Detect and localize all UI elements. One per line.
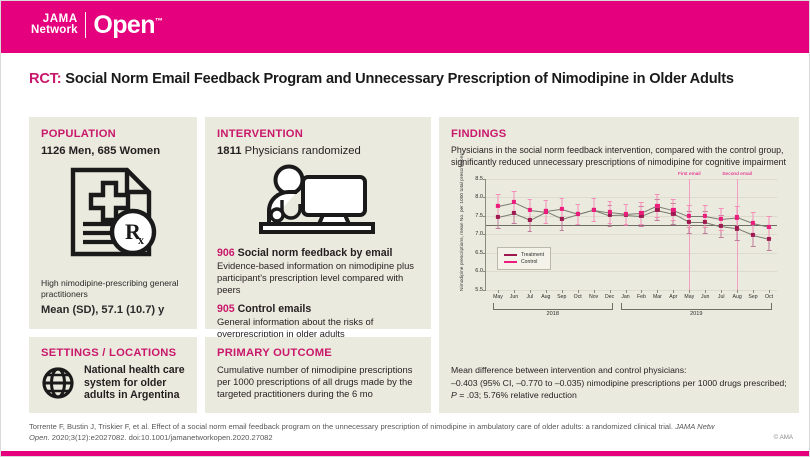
chart-x-tick-mark [514,290,515,293]
visual-abstract-page: JAMA Network Open™ RCT: Social Norm Emai… [0,0,810,457]
chart-error-cap [639,224,644,225]
arm-label: Social norm feedback by email [238,247,393,259]
chart-x-tick-label: Aug [732,294,741,300]
panel-population: POPULATION 1126 Men, 685 Women R x High … [29,117,197,329]
jama-network-wordmark: JAMA Network [31,14,78,37]
chart-error-cap [623,224,628,225]
chart-error-cap [687,227,692,228]
primary-outcome-heading: PRIMARY OUTCOME [217,347,419,359]
chart-data-point[interactable] [576,212,580,216]
brand-network: Network [31,25,78,36]
chart-data-point[interactable] [560,217,564,221]
chart-error-cap [528,199,533,200]
chart-x-tick-mark [657,290,658,293]
journal-logo[interactable]: JAMA Network Open™ [31,12,162,38]
chart-data-point[interactable] [735,226,739,230]
chart-error-cap [719,237,724,238]
logo-divider [85,12,87,38]
chart-x-tick-mark [594,290,595,293]
chart-x-tick-mark [689,290,690,293]
chart-error-cap [512,223,517,224]
findings-footer-line2: –0.403 (95% CI, –0.770 to –0.035) nimodi… [451,377,787,389]
intervention-randomized: 1811 Physicians randomized [217,145,419,157]
chart-error-cap [544,223,549,224]
brand-open: Open™ [93,13,162,38]
chart-error-cap [607,223,612,224]
chart-x-tick-mark [578,290,579,293]
chart-data-point[interactable] [687,214,691,218]
arm-count: 906 [217,247,235,259]
chart-y-tick-mark [483,234,486,235]
chart-y-tick-mark [483,290,486,291]
chart-data-point[interactable] [544,209,548,213]
chart-year-bracket [621,303,772,310]
chart-x-tick-mark [641,290,642,293]
chart-error-cap [751,212,756,213]
chart-error-cap [719,208,724,209]
chart-x-tick-label: Oct [574,294,582,300]
arm-detail: Evidence-based information on nimodipine… [217,260,419,296]
chart-error-cap [751,246,756,247]
chart-error-cap [639,202,644,203]
chart-x-tick-label: Mar [653,294,662,300]
randomized-label: Physicians randomized [242,145,361,157]
chart-data-point[interactable] [671,211,675,215]
population-footnote: High nimodipine-prescribing general prac… [41,278,185,318]
chart-y-tick-label: 6.5 [475,250,483,256]
legend-item-control: Control [504,259,544,265]
chart-data-point[interactable] [496,203,500,207]
chart-error-cap [607,226,612,227]
title-text: Social Norm Email Feedback Program and U… [61,71,733,87]
chart-data-point[interactable] [671,208,675,212]
chart-error-cap [687,205,692,206]
chart-error-cap [639,226,644,227]
chart-data-point[interactable] [767,237,771,241]
chart-data-point[interactable] [719,224,723,228]
chart-plot-area: 5.56.06.57.07.58.08.5First emailSecond e… [485,179,777,291]
chart-year-bracket [493,303,613,310]
intervention-arm: 906 Social norm feedback by email Eviden… [217,247,419,296]
panel-settings: SETTINGS / LOCATIONS National health car… [29,337,197,413]
chart-error-cap [671,224,676,225]
trademark-mark: ™ [155,16,162,25]
arm-count: 905 [217,303,235,315]
findings-footer-line1: Mean difference between intervention and… [451,364,787,376]
chart-x-tick-label: Nov [589,294,598,300]
prescription-document-icon: R x [41,166,185,258]
findings-chart: Nimodipine prescriptions, mean No. per 1… [451,173,787,323]
globe-icon [41,366,75,400]
footer-accent-bar [1,451,809,456]
chart-event-line [689,179,690,290]
chart-error-cap [559,230,564,231]
population-mean-age: Mean (SD), 57.1 (10.7) y [41,303,185,318]
citation-text: Torrente F, Bustin J, Triskier F, et al.… [29,422,675,431]
chart-error-cap [496,194,501,195]
chart-event-label: First email [678,172,701,177]
chart-x-tick-mark [673,290,674,293]
chart-data-point[interactable] [751,221,755,225]
settings-heading: SETTINGS / LOCATIONS [41,347,185,359]
chart-x-tick-label: Oct [765,294,773,300]
primary-outcome-text: Cumulative number of nimodipine prescrip… [217,364,419,401]
chart-x-tick-label: Jul [718,294,725,300]
chart-x-tick-mark [737,290,738,293]
chart-x-tick-mark [626,290,627,293]
chart-data-point[interactable] [703,214,707,218]
chart-y-tick-label: 5.5 [475,287,483,293]
page-title: RCT: Social Norm Email Feedback Program … [29,71,809,87]
panel-findings: FINDINGS Physicians in the social norm f… [439,117,799,413]
chart-error-cap [703,233,708,234]
chart-data-point[interactable] [528,218,532,222]
chart-error-cap [703,205,708,206]
chart-error-cap [671,199,676,200]
intervention-heading: INTERVENTION [217,128,419,140]
chart-x-tick-mark [705,290,706,293]
chart-data-point[interactable] [767,225,771,229]
chart-data-point[interactable] [655,208,659,212]
chart-x-tick-label: Jan [621,294,629,300]
chart-y-tick-label: 7.5 [475,213,483,219]
chart-year-label: 2019 [690,311,702,317]
chart-data-point[interactable] [687,220,691,224]
arm-heading: 905 Control emails [217,303,419,315]
chart-x-tick-label: Jun [701,294,709,300]
chart-x-tick-label: Dec [605,294,614,300]
chart-gridline [486,271,777,272]
physician-computer-icon [217,163,419,237]
chart-x-tick-mark [562,290,563,293]
chart-y-tick-label: 8.5 [475,176,483,182]
chart-year-label: 2018 [547,311,559,317]
chart-error-cap [655,220,660,221]
chart-error-cap [575,204,580,205]
chart-y-tick-label: 8.0 [475,194,483,200]
chart-data-point[interactable] [528,208,532,212]
chart-error-cap [655,194,660,195]
population-counts: 1126 Men, 685 Women [41,145,185,157]
study-type-tag: RCT: [29,71,61,87]
chart-error-cap [559,198,564,199]
chart-gridline [486,179,777,180]
chart-x-tick-label: Jun [510,294,518,300]
chart-error-cap [591,221,596,222]
chart-error-cap [607,201,612,202]
chart-data-point[interactable] [512,200,516,204]
chart-error-cap [735,206,740,207]
chart-y-tick-mark [483,197,486,198]
chart-gridline [486,234,777,235]
chart-y-tick-mark [483,179,486,180]
panel-primary-outcome: PRIMARY OUTCOME Cumulative number of nim… [205,337,431,413]
chart-data-point[interactable] [735,215,739,219]
settings-text: National health care system for older ad… [84,364,185,402]
findings-heading: FINDINGS [451,128,787,140]
chart-x-tick-mark [769,290,770,293]
chart-error-cap [671,220,676,221]
svg-text:x: x [138,233,144,247]
chart-data-point[interactable] [592,208,596,212]
chart-legend: Treatment Control [497,247,551,271]
chart-x-tick-label: May [684,294,694,300]
chart-y-tick-mark [483,216,486,217]
findings-summary: Physicians in the social norm feedback i… [451,145,787,169]
chart-error-cap [735,240,740,241]
chart-x-tick-label: May [493,294,503,300]
arm-label: Control emails [238,303,312,315]
chart-data-point[interactable] [719,217,723,221]
chart-x-tick-label: Apr [669,294,677,300]
findings-footer-line3: P = .03; 5.76% relative reduction [451,389,787,401]
chart-error-cap [703,227,708,228]
chart-data-point[interactable] [639,211,643,215]
findings-footer: Mean difference between intervention and… [451,364,787,401]
legend-item-treatment: Treatment [504,252,544,258]
chart-x-tick-mark [753,290,754,293]
copyright-notice: © AMA [774,434,793,441]
chart-error-cap [767,250,772,251]
chart-event-label: Second email [722,172,752,177]
chart-error-cap [687,233,692,234]
chart-error-cap [575,224,580,225]
citation: Torrente F, Bustin J, Triskier F, et al.… [29,421,729,444]
chart-x-tick-mark [530,290,531,293]
chart-error-cap [719,230,724,231]
chart-data-point[interactable] [623,212,627,216]
chart-x-tick-label: Feb [637,294,646,300]
chart-y-tick-mark [483,271,486,272]
chart-error-cap [767,216,772,217]
chart-error-cap [591,198,596,199]
chart-x-tick-mark [610,290,611,293]
population-descriptor: High nimodipine-prescribing general prac… [41,278,179,299]
citation-doi: 2020;3(12):e2027082. doi:10.1001/jamanet… [50,433,273,442]
chart-error-cap [496,228,501,229]
chart-error-cap [528,231,533,232]
arm-heading: 906 Social norm feedback by email [217,247,419,259]
chart-data-point[interactable] [655,203,659,207]
chart-x-tick-label: Jul [527,294,534,300]
chart-data-point[interactable] [496,215,500,219]
chart-y-axis-label: Nimodipine prescriptions, mean No. per 1… [449,179,461,291]
chart-error-cap [623,204,628,205]
chart-y-tick-label: 7.0 [475,231,483,237]
chart-x-tick-label: Aug [541,294,550,300]
chart-data-point[interactable] [751,233,755,237]
chart-data-point[interactable] [703,220,707,224]
chart-error-cap [512,191,517,192]
chart-x-tick-mark [498,290,499,293]
chart-data-point[interactable] [607,210,611,214]
chart-data-point[interactable] [512,211,516,215]
chart-x-tick-label: Sep [557,294,566,300]
chart-x-tick-label: Sep [748,294,757,300]
panel-intervention: INTERVENTION 1811 Physicians randomized … [205,117,431,329]
chart-data-point[interactable] [560,207,564,211]
chart-x-tick-mark [721,290,722,293]
chart-error-cap [655,217,660,218]
intervention-arm: 905 Control emails General information a… [217,303,419,340]
chart-error-cap [544,200,549,201]
chart-y-tick-label: 6.0 [475,268,483,274]
population-heading: POPULATION [41,128,185,140]
randomized-count: 1811 [217,145,242,157]
masthead: JAMA Network Open™ [1,1,809,53]
chart-x-tick-mark [546,290,547,293]
chart-y-tick-mark [483,253,486,254]
